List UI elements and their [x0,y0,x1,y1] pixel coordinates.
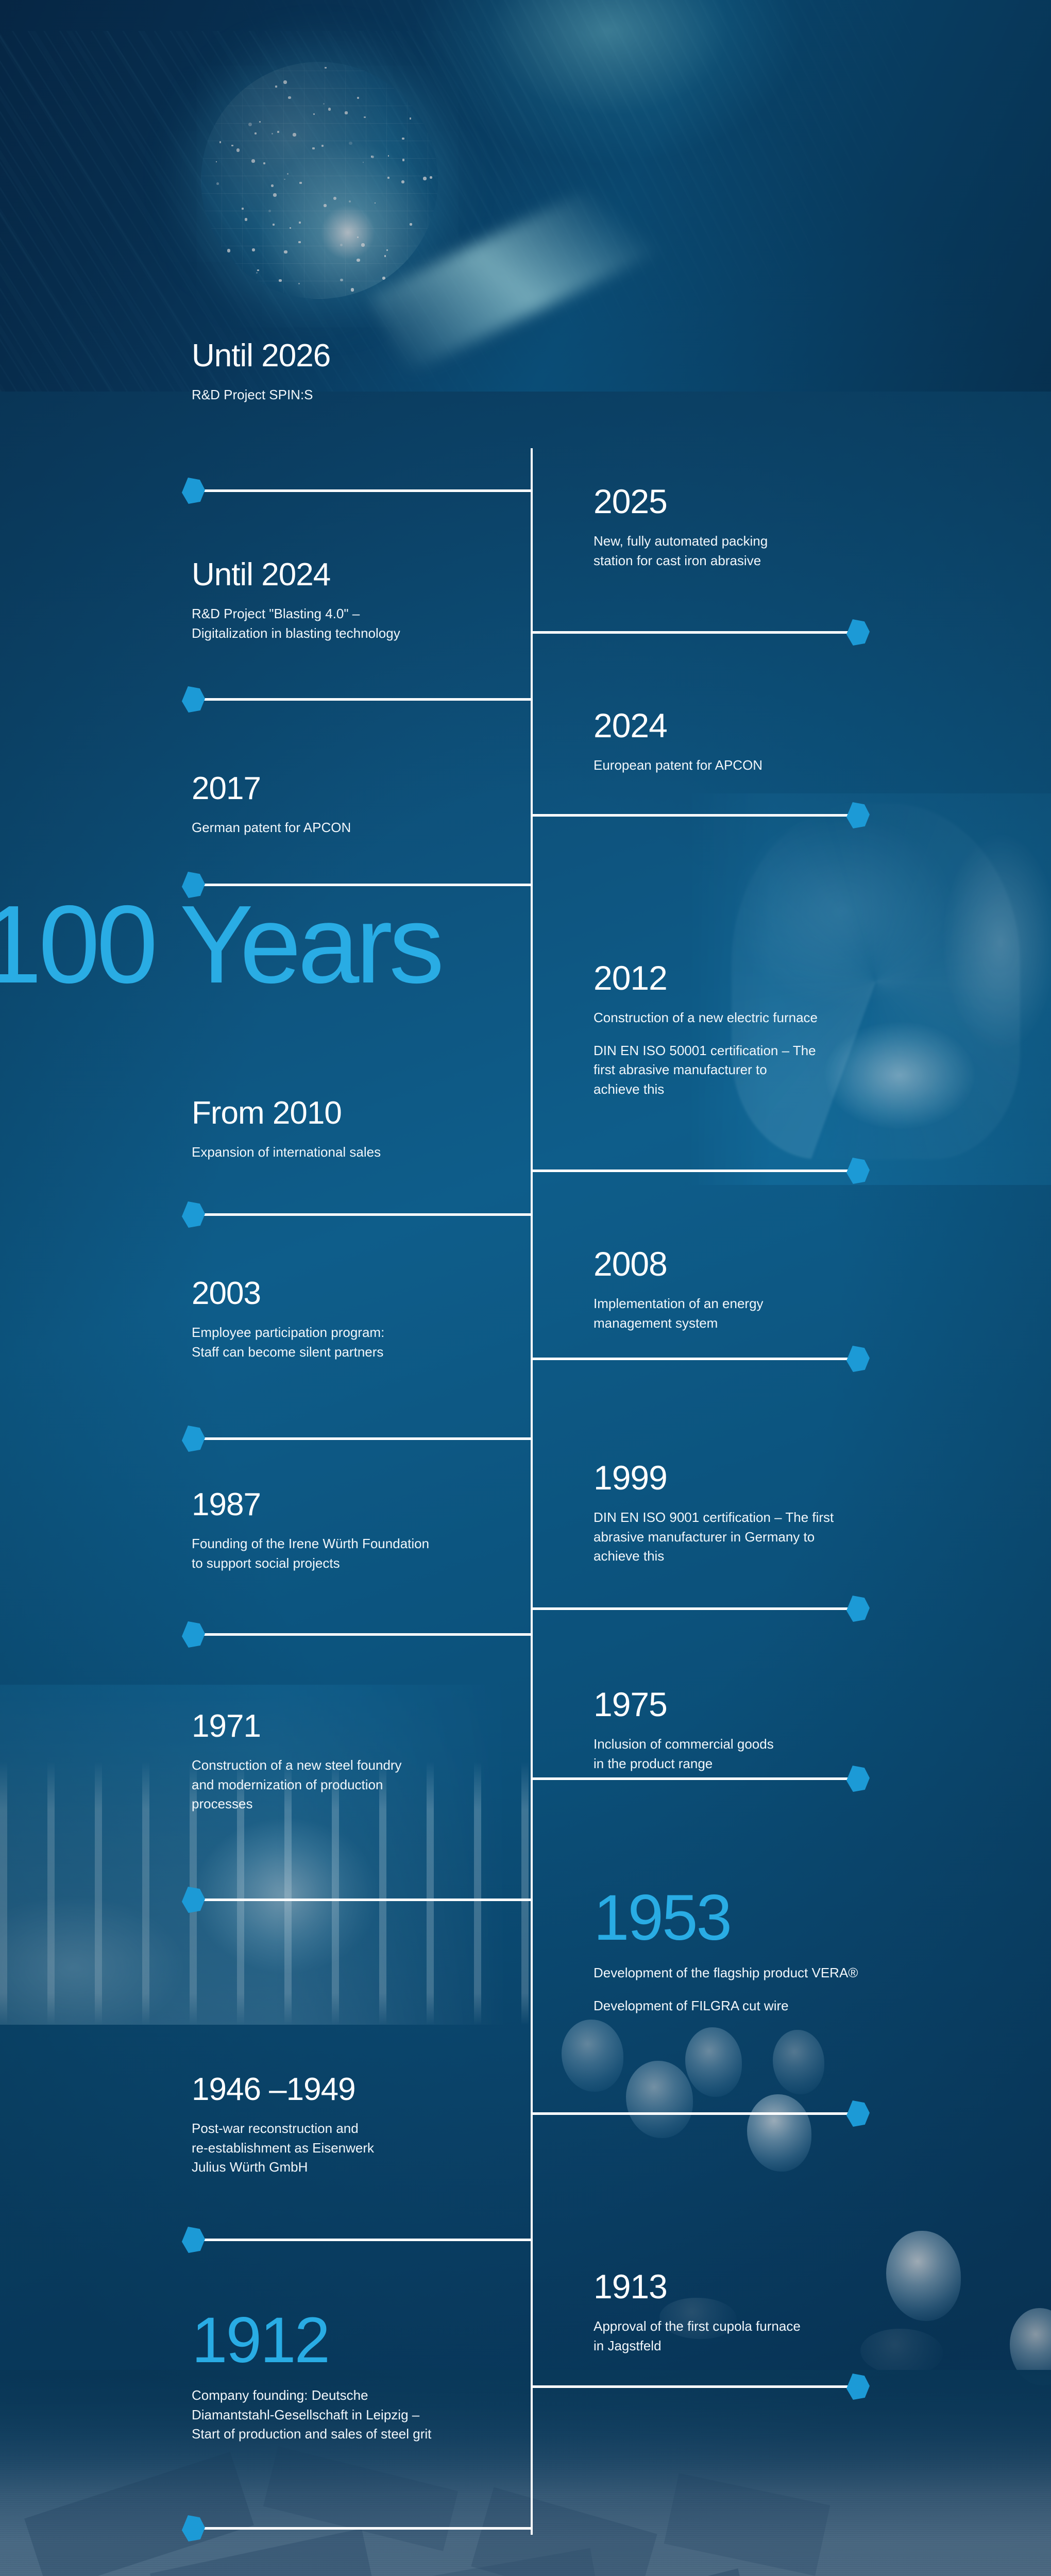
timeline-connector [531,1170,855,1172]
timeline-connector [531,631,855,634]
entry-year: 2025 [594,484,985,518]
timeline-entry: 2017German patent for APCON [192,773,521,838]
entry-year: 2003 [192,1278,521,1310]
timeline-connector [531,1358,855,1360]
entry-year: 2008 [594,1247,985,1281]
timeline-marker-hexagon-icon [181,1425,205,1452]
entry-year: 1912 [192,2308,521,2372]
timeline-marker-hexagon-icon [846,2100,870,2127]
timeline-entry: 2012Construction of a new electric furna… [594,961,985,1099]
entry-year: 2017 [192,773,521,805]
entry-year: 1953 [594,1886,985,1950]
factory-rooftops-decoration [0,2452,1051,2576]
timeline-connector [196,1213,533,1216]
timeline-connector [196,2239,533,2241]
entry-year: 2012 [594,961,985,995]
timeline-connector [196,2527,533,2530]
entry-description: Construction of a new electric furnace [594,1008,985,1028]
circuit-pattern-decoration [0,31,670,392]
timeline-entry: 1971Construction of a new steel foundry … [192,1710,521,1814]
timeline-marker-hexagon-icon [181,1886,205,1913]
entry-description: New, fully automated packing station for… [594,532,985,570]
timeline-entry: 2025New, fully automated packing station… [594,484,985,570]
abrasive-pellets-photo [531,2009,1051,2298]
entry-description: Development of the flagship product VERA… [594,1963,985,1983]
timeline-marker-hexagon-icon [846,1595,870,1622]
timeline-marker-hexagon-icon [846,1157,870,1184]
globe-sphere-icon [201,62,438,299]
timeline-entry: From 2010Expansion of international sale… [192,1097,521,1162]
tree-line-decoration [0,1834,289,2025]
entry-year: Until 2026 [192,340,521,372]
timeline-marker-hexagon-icon [846,1345,870,1372]
entry-description: R&D Project SPIN:S [192,385,521,405]
timeline-entry: 1946 –1949Post-war reconstruction and re… [192,2074,521,2177]
timeline-marker-hexagon-icon [846,2373,870,2400]
factory-top-fade [0,2370,1051,2494]
timeline-connector [196,1437,533,1440]
timeline-entry: 1912Company founding: Deutsche Diamantst… [192,2308,521,2444]
timeline-connector [196,1899,533,1901]
timeline-marker-hexagon-icon [846,802,870,828]
timeline-entry: 1975Inclusion of commercial goods in the… [594,1687,985,1773]
entry-description: Implementation of an energy management s… [594,1294,985,1333]
timeline-marker-hexagon-icon [181,2226,205,2253]
entry-year: 1971 [192,1710,521,1742]
entry-description: Post-war reconstruction and re-establish… [192,2119,521,2177]
timeline-entry: 1987Founding of the Irene Würth Foundati… [192,1489,521,1573]
timeline-marker-hexagon-icon [181,1621,205,1648]
timeline-entry: Until 2026R&D Project SPIN:S [192,340,521,405]
entry-description: DIN EN ISO 9001 certification – The firs… [594,1508,985,1566]
entry-description: R&D Project "Blasting 4.0" – Digitalizat… [192,604,521,643]
timeline-entry: 1913Approval of the first cupola furnace… [594,2269,985,2355]
entry-description: European patent for APCON [594,756,985,775]
timeline-marker-hexagon-icon [181,477,205,504]
entry-year: Until 2024 [192,559,521,591]
entry-description: Company founding: Deutsche Diamantstahl-… [192,2386,521,2444]
timeline-connector [531,2385,855,2388]
entry-description: Approval of the first cupola furnace in … [594,2317,985,2355]
globe-nodes-icon [201,62,438,299]
timeline-connector [196,698,533,701]
timeline-spine [531,448,533,2535]
globe-wireframe-icon [201,62,438,299]
entry-year: From 2010 [192,1097,521,1129]
engraving-grain-texture [0,2370,1051,2576]
entry-year: 2024 [594,708,985,742]
entry-year: 1946 –1949 [192,2074,521,2106]
light-rays-decoration [0,0,1051,392]
infographic-timeline: 100 Years Until 2026R&D Project SPIN:SUn… [0,0,1051,2576]
entry-description: Expansion of international sales [192,1143,521,1162]
timeline-connector [531,814,855,817]
timeline-entry: 2003Employee participation program: Staf… [192,1278,521,1362]
timeline-entry: Until 2024R&D Project "Blasting 4.0" – D… [192,559,521,643]
network-globe-illustration [0,0,1051,392]
entry-year: 1913 [594,2269,985,2303]
entry-description: Development of FILGRA cut wire [594,1996,985,2016]
timeline-connector [531,1607,855,1610]
timeline-connector [531,1777,855,1780]
timeline-connector [531,2112,855,2115]
page-title: 100 Years [0,889,542,999]
timeline-connector [196,489,533,492]
historic-factory-engraving [0,2370,1051,2576]
entry-year: 1999 [594,1461,985,1495]
timeline-entry: 2024European patent for APCON [594,708,985,775]
entry-description: Employee participation program: Staff ca… [192,1323,521,1362]
entry-description: DIN EN ISO 50001 certification – The fir… [594,1041,985,1099]
timeline-entry: 2008Implementation of an energy manageme… [594,1247,985,1333]
entry-year: 1987 [192,1489,521,1521]
entry-description: German patent for APCON [192,818,521,838]
timeline-entry: 1999DIN EN ISO 9001 certification – The … [594,1461,985,1566]
timeline-connector [196,1633,533,1636]
timeline-marker-hexagon-icon [846,619,870,646]
entry-description: Construction of a new steel foundry and … [192,1756,521,1814]
timeline-marker-hexagon-icon [181,686,205,713]
timeline-marker-hexagon-icon [181,1201,205,1228]
timeline-entry: 1953Development of the flagship product … [594,1886,985,2015]
entry-description: Inclusion of commercial goods in the pro… [594,1735,985,1773]
entry-year: 1975 [594,1687,985,1721]
timeline-marker-hexagon-icon [181,2515,205,2541]
entry-description: Founding of the Irene Würth Foundation t… [192,1534,521,1573]
timeline-connector [196,884,533,886]
